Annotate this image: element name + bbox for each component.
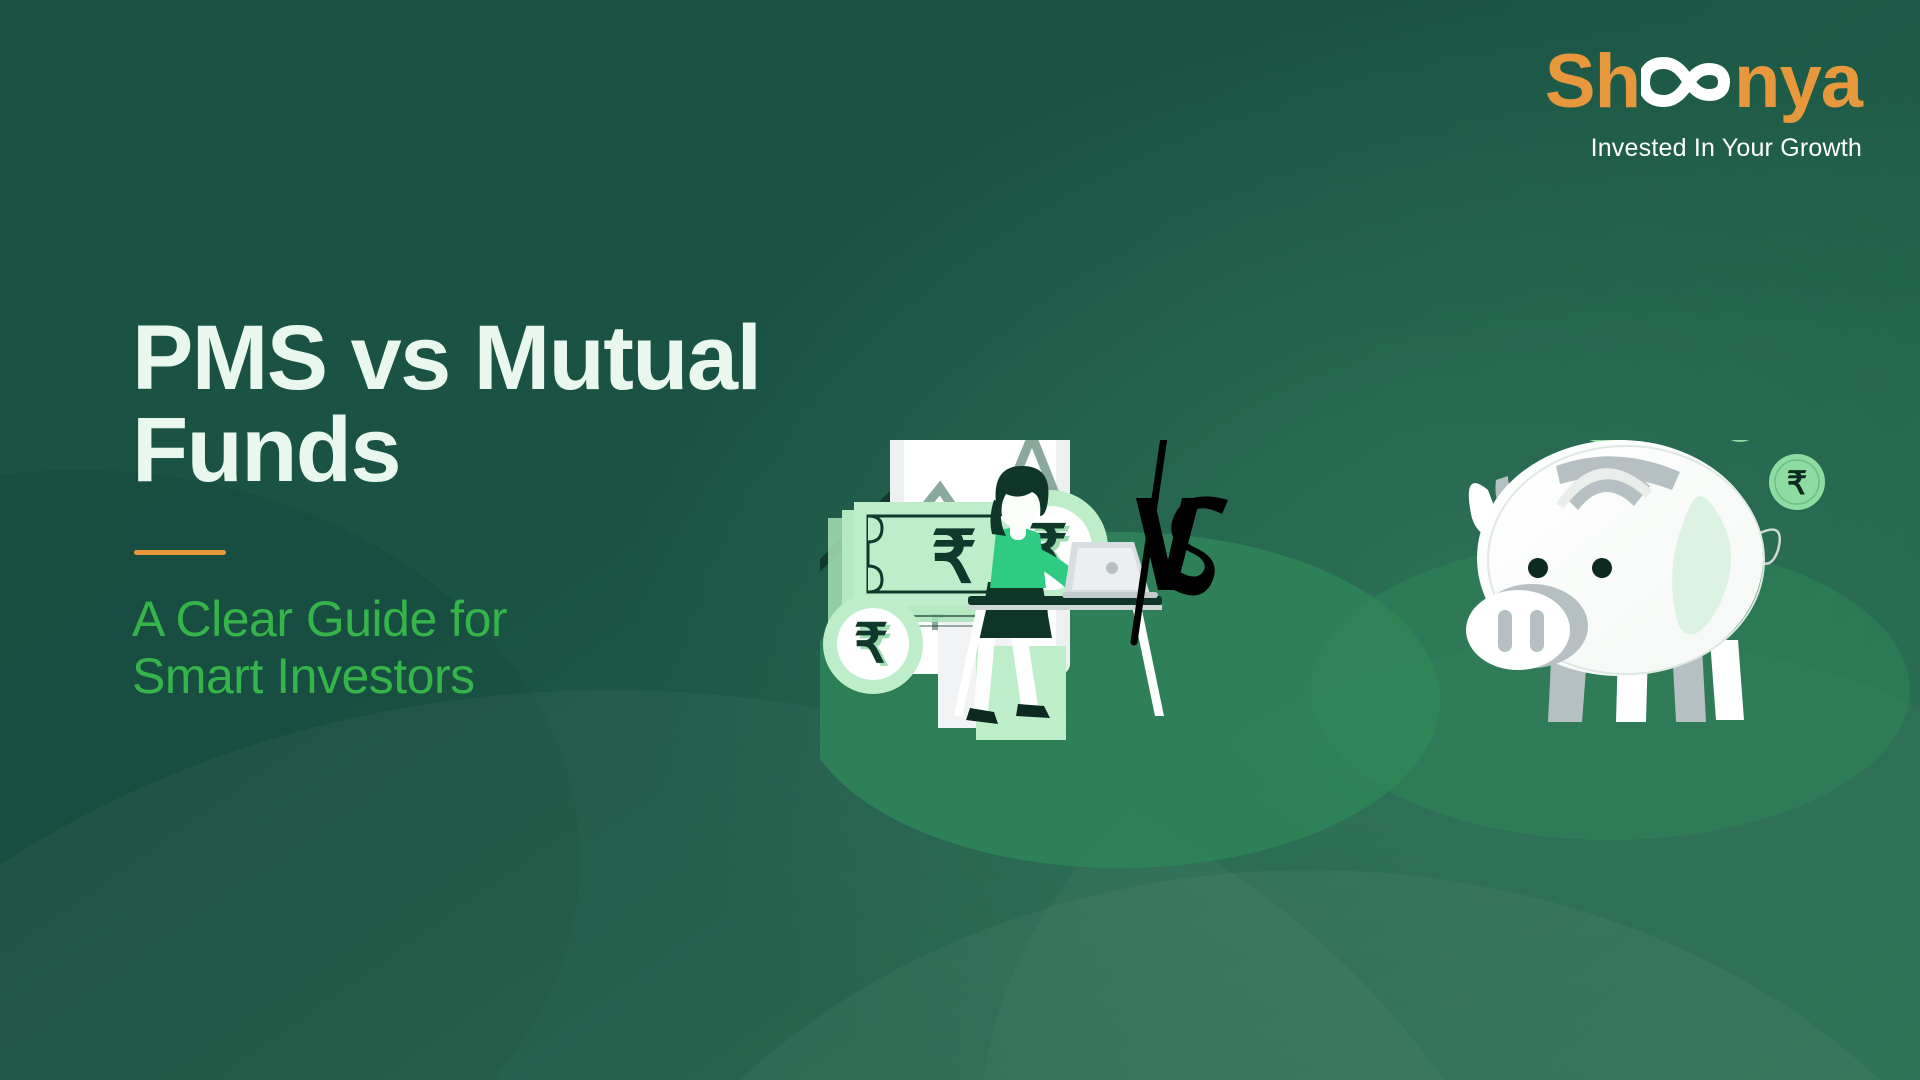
- rupee-coin-small: ₹ ₹: [823, 594, 923, 694]
- page-title: PMS vs Mutual Funds: [132, 312, 852, 496]
- logo-text-before: Sh: [1545, 44, 1640, 120]
- brand-logo[interactable]: Sh nya Invested In Your Growth: [1545, 44, 1862, 163]
- hero-copy: PMS vs Mutual Funds A Clear Guide for Sm…: [132, 312, 852, 704]
- title-divider: [134, 550, 226, 555]
- logo-text-after: nya: [1734, 44, 1862, 120]
- svg-text:₹: ₹: [1787, 465, 1807, 501]
- svg-text:₹: ₹: [854, 614, 888, 674]
- logo-tagline: Invested In Your Growth: [1545, 134, 1862, 163]
- coin-float-small: ₹: [1718, 440, 1762, 442]
- infinity-icon: [1641, 53, 1733, 111]
- coin-float-medium: ₹: [1769, 454, 1825, 510]
- logo-wordmark: Sh nya: [1545, 44, 1862, 120]
- hero-banner: Sh nya Invested In Your Growth PMS vs Mu…: [0, 0, 1920, 1080]
- page-subtitle: A Clear Guide for Smart Investors: [132, 591, 852, 704]
- banknote-rupee-symbol: ₹: [931, 518, 977, 598]
- hero-illustration: ₹ ₹ ₹ ₹ ₹: [820, 440, 1920, 1080]
